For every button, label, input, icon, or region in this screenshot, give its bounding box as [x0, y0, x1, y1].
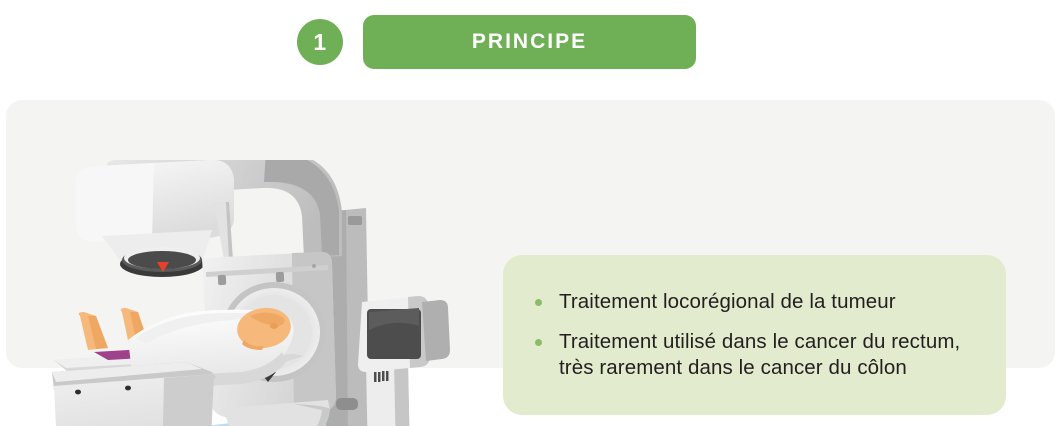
- list-item-text: Traitement locorégional de la tumeur: [559, 290, 896, 313]
- bullet-dot-icon: [535, 299, 542, 306]
- list-item: Traitement utilisé dans le cancer du rec…: [529, 329, 990, 381]
- control-cabinet: [52, 362, 216, 426]
- list-item: Traitement locorégional de la tumeur: [529, 289, 990, 315]
- section-title-pill: PRINCIPE: [363, 15, 696, 69]
- control-console: [358, 296, 450, 426]
- info-callout: Traitement locorégional de la tumeur Tra…: [503, 255, 1006, 415]
- section-title-label: PRINCIPE: [472, 30, 587, 54]
- radiotherapy-illustration: [36, 160, 466, 426]
- list-item-text: Traitement utilisé dans le cancer du rec…: [559, 330, 960, 379]
- slide-root: 1 PRINCIPE: [0, 0, 1060, 426]
- bullet-dot-icon: [535, 339, 542, 346]
- content-panel: Traitement locorégional de la tumeur Tra…: [6, 100, 1055, 368]
- bullet-list: Traitement locorégional de la tumeur Tra…: [529, 289, 990, 381]
- step-number-badge: 1: [297, 19, 343, 65]
- header: 1 PRINCIPE: [0, 0, 1060, 80]
